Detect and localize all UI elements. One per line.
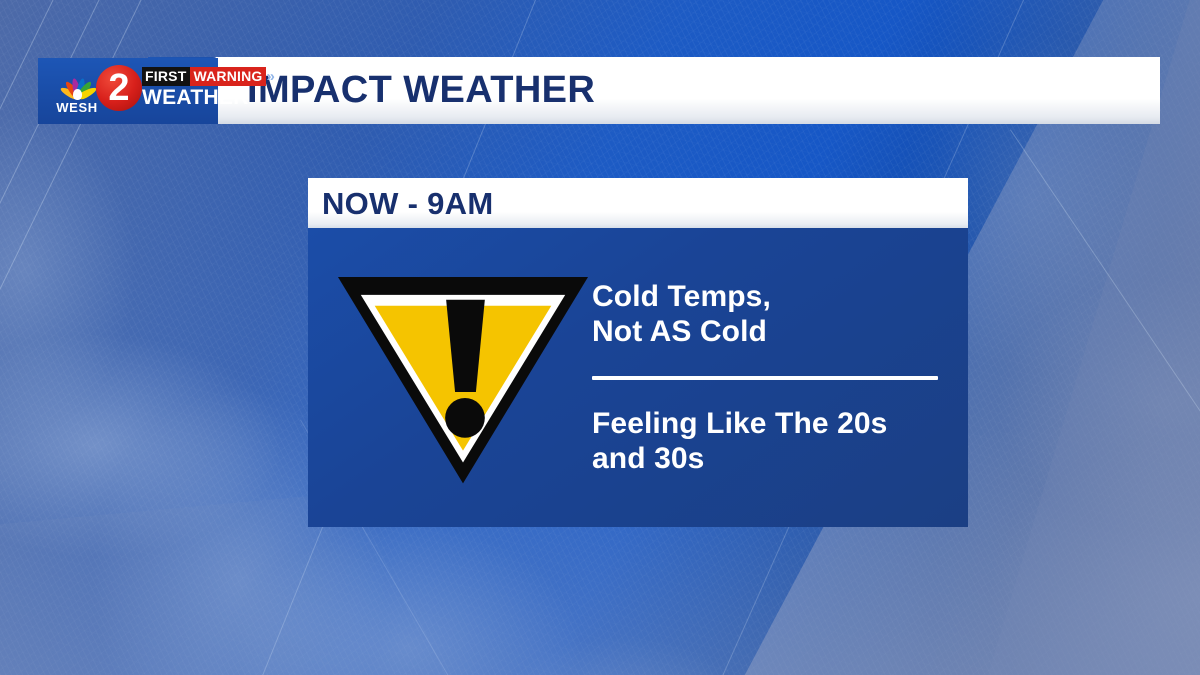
- panel-header: NOW - 9AM: [308, 178, 968, 228]
- header-bar: IMPACT WEATHER WESH 2 FIRST WARNING » WE…: [0, 57, 1160, 124]
- primary-message: Cold Temps, Not AS Cold: [592, 279, 946, 349]
- weather-graphic: IMPACT WEATHER WESH 2 FIRST WARNING » WE…: [0, 0, 1200, 675]
- channel-number-badge: 2: [96, 65, 142, 111]
- chevron-right-icon: »: [267, 68, 275, 85]
- timeframe-label: NOW - 9AM: [322, 188, 493, 219]
- station-call-letters: WESH: [56, 101, 97, 114]
- message-divider: [592, 376, 938, 380]
- brand-first-label: FIRST: [142, 67, 190, 86]
- brand-weather-label: WEATHER: [142, 87, 264, 109]
- warning-triangle-exclamation-icon: [334, 271, 592, 484]
- station-logo-block[interactable]: WESH 2 FIRST WARNING » WEATHER: [38, 58, 218, 124]
- impact-message-group: Cold Temps, Not AS Cold Feeling Like The…: [592, 279, 968, 475]
- brand-warning-label: WARNING: [190, 67, 265, 86]
- panel-body: Cold Temps, Not AS Cold Feeling Like The…: [308, 228, 968, 527]
- first-warning-weather-logo: FIRST WARNING » WEATHER: [142, 66, 264, 109]
- nbc-peacock-icon: [57, 69, 97, 100]
- page-title: IMPACT WEATHER: [247, 57, 595, 124]
- impact-panel: NOW - 9AM Cold Temps, Not AS C: [308, 178, 968, 527]
- secondary-message: Feeling Like The 20s and 30s: [592, 406, 946, 476]
